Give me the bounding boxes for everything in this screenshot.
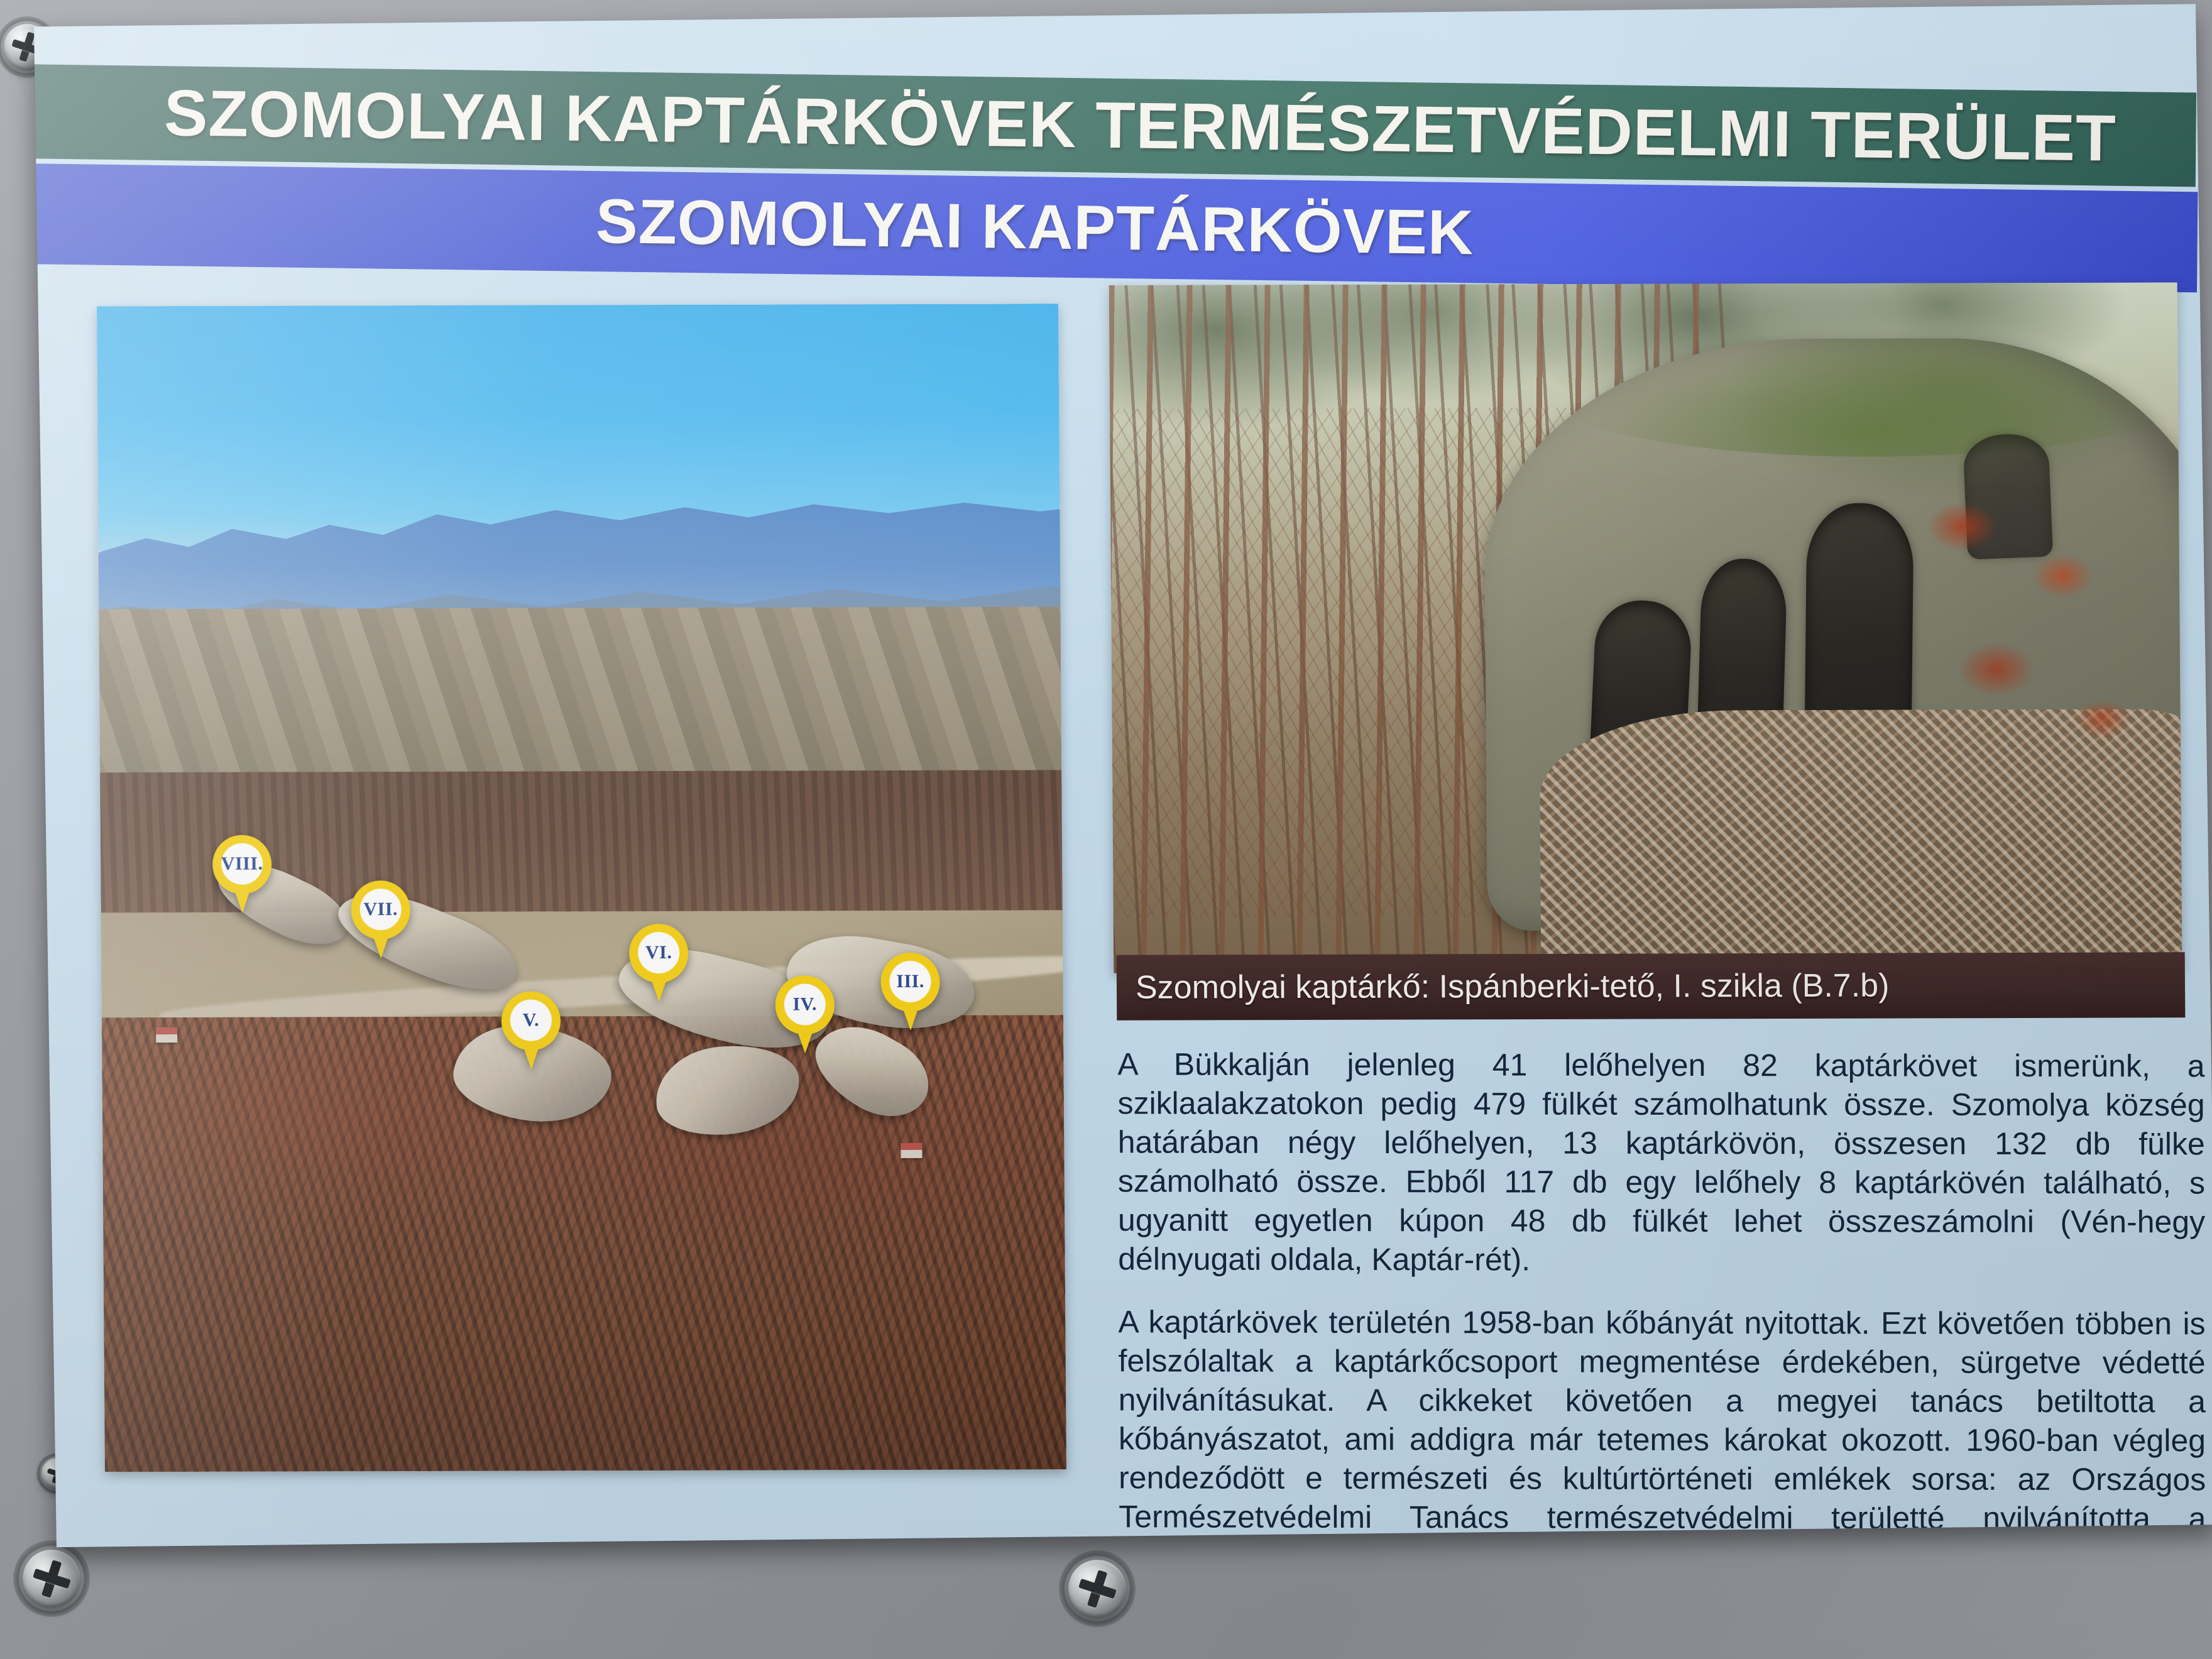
pin-label: VII. (363, 899, 398, 920)
pin-label-disc: VIII. (221, 843, 263, 885)
map-pin-marker[interactable]: VI. (629, 924, 689, 1002)
pin-label: III. (896, 971, 924, 992)
small-building (156, 1027, 177, 1043)
photo-caption-bar: Szomolyai kaptárkő: Ispánberki-tető, I. … (1117, 952, 2186, 1020)
header-band-blue: SZOMOLYAI KAPTÁRKÖVEK (35, 163, 2198, 292)
pin-label: VI. (645, 942, 672, 963)
pin-label-disc: III. (889, 961, 931, 1002)
map-pin-marker[interactable]: V. (501, 991, 561, 1069)
pin-label-disc: VII. (359, 889, 401, 930)
map-pin-marker[interactable]: IV. (775, 975, 835, 1053)
beehive-rock-photo (1109, 282, 2182, 973)
pin-label-disc: V. (510, 999, 552, 1041)
red-oak-leaves (1901, 461, 2181, 820)
mounting-panel: SZOMOLYAI KAPTÁRKÖVEK TERMÉSZETVÉDELMI T… (0, 0, 2212, 1659)
pin-label: VIII. (221, 853, 263, 875)
pin-label: V. (523, 1010, 540, 1031)
pin-label-disc: VI. (638, 932, 679, 973)
map-pin-marker[interactable]: VII. (351, 880, 410, 958)
map-pin-marker[interactable]: III. (880, 953, 940, 1031)
pin-label-disc: IV. (784, 983, 826, 1025)
body-paragraph-2: A kaptárkövek területén 1958-ban kőbányá… (1118, 1302, 2206, 1547)
small-building (901, 1143, 922, 1158)
aerial-landscape-photo: VIII. VII. VI. V. (97, 304, 1066, 1472)
board-title-sub: SZOMOLYAI KAPTÁRKÖVEK (596, 185, 1474, 269)
information-board: SZOMOLYAI KAPTÁRKÖVEK TERMÉSZETVÉDELMI T… (34, 4, 2212, 1547)
mounting-screw-bottom-center (1068, 1560, 1126, 1618)
photo-caption-text: Szomolyai kaptárkő: Ispánberki-tető, I. … (1117, 967, 1890, 1007)
mounting-screw-bottom-left (23, 1550, 80, 1607)
map-pin-marker[interactable]: VIII. (212, 835, 272, 913)
description-text-column: A Bükkalján jelenleg 41 lelőhelyen 82 ka… (1117, 1044, 2206, 1547)
body-paragraph-1: A Bükkalján jelenleg 41 lelőhelyen 82 ka… (1117, 1044, 2205, 1280)
pin-label: IV. (792, 994, 817, 1015)
